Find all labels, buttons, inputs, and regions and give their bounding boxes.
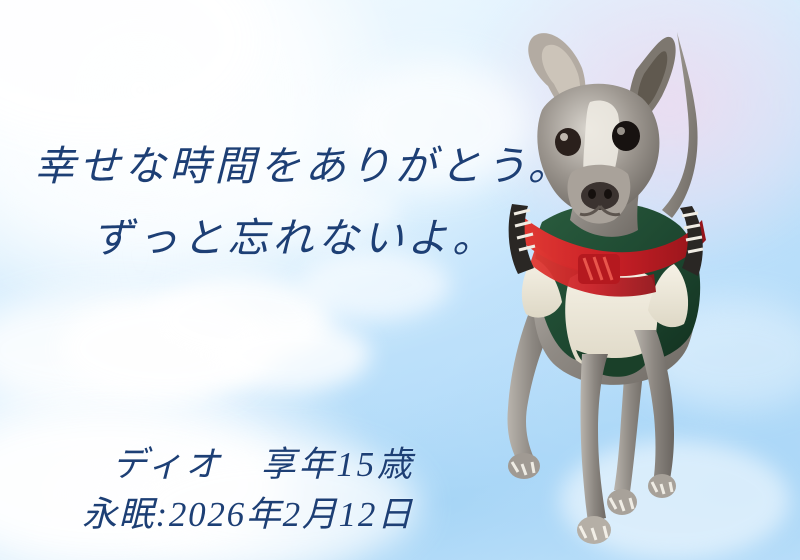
- memorial-date-line: 永眠:2026年2月12日: [82, 486, 414, 537]
- dog-photo: [430, 10, 800, 560]
- memorial-card: 幸せな時間をありがとう。 ずっと忘れないよ。 ディオ 享年15歳 永眠:2026…: [0, 0, 800, 560]
- cloud: [210, 318, 370, 392]
- message-line-2: ずっと忘れないよ。: [92, 204, 497, 264]
- memorial-name-line: ディオ 享年15歳: [112, 436, 415, 487]
- message-line-1: 幸せな時間をありがとう。: [34, 132, 573, 192]
- dog-nose: [581, 182, 619, 210]
- dog-eye-right: [612, 121, 640, 151]
